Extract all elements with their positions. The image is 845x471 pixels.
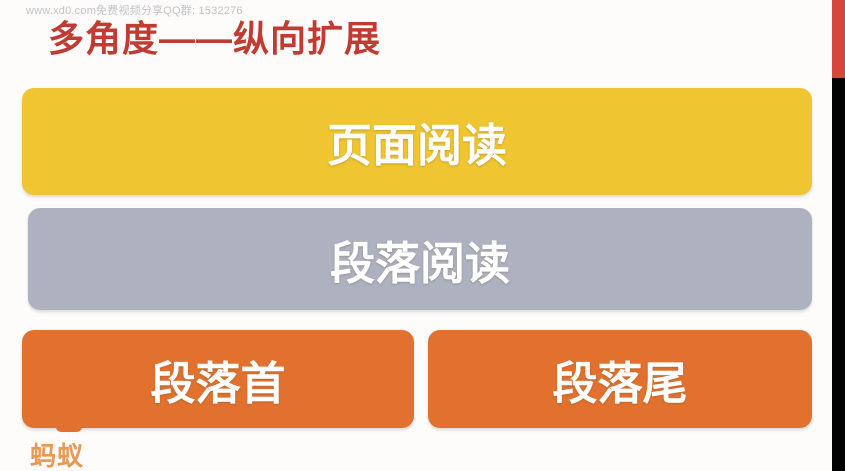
node-page-read: 页面阅读: [22, 88, 812, 195]
node-paragraph-tail: 段落尾: [428, 330, 812, 428]
node-paragraph-read: 段落阅读: [28, 208, 812, 310]
page-title: 多角度——纵向扩展: [48, 18, 381, 59]
node-paragraph-head-label: 段落首: [150, 347, 285, 412]
node-connector-nub: [56, 424, 82, 432]
node-paragraph-tail-label: 段落尾: [552, 347, 687, 412]
slide-canvas: www.xd0.com免费视频分享QQ群: 1532276 多角度——纵向扩展 …: [0, 0, 832, 471]
watermark-text: www.xd0.com免费视频分享QQ群: 1532276: [26, 2, 243, 18]
right-edge-black-strip: [832, 78, 845, 471]
brand-label: 蚂蚁: [30, 436, 84, 471]
right-edge-red-strip: [832, 0, 845, 78]
node-page-read-label: 页面阅读: [327, 109, 507, 174]
node-paragraph-read-label: 段落阅读: [330, 227, 510, 292]
node-paragraph-head: 段落首: [22, 330, 414, 428]
slide-screenshot: www.xd0.com免费视频分享QQ群: 1532276 多角度——纵向扩展 …: [0, 0, 845, 471]
